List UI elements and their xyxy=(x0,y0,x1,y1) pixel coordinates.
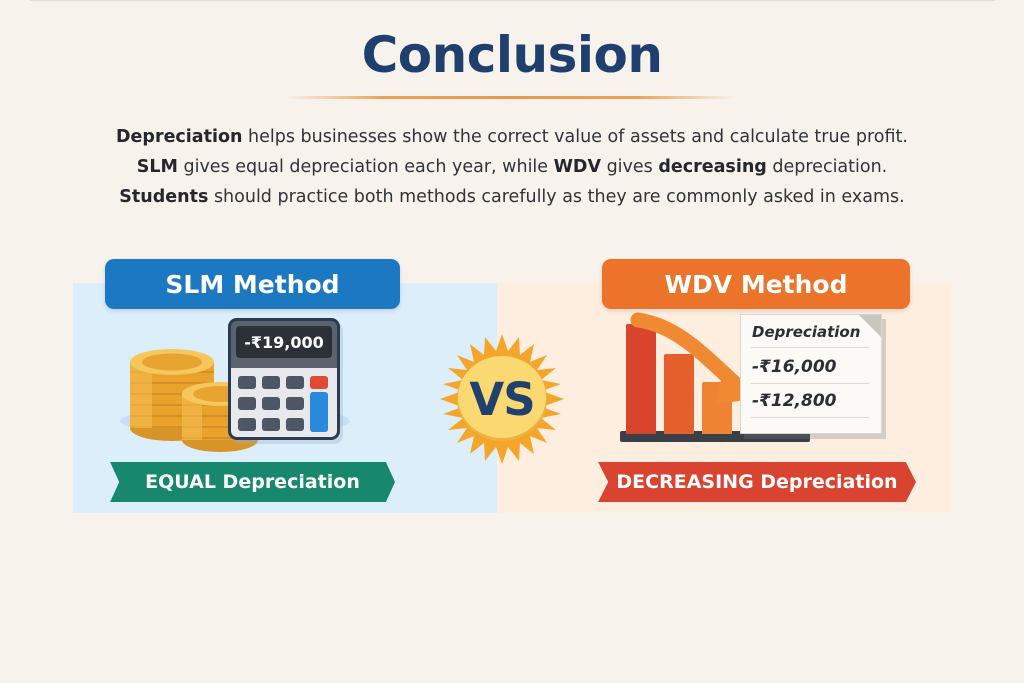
paragraph-line-2-text-b: gives xyxy=(601,157,658,177)
calculator-key-blue xyxy=(310,392,328,432)
paragraph-line-2-bold-decreasing: decreasing xyxy=(658,157,766,177)
calculator-display: -₹19,000 xyxy=(236,326,332,358)
calculator-display-value: -₹19,000 xyxy=(244,333,324,352)
paragraph-line-2-text-c: depreciation. xyxy=(767,157,887,177)
wdv-method-header[interactable]: WDV Method xyxy=(602,259,910,309)
summary-paragraph: Depreciation helps businesses show the c… xyxy=(62,122,962,212)
document-value-2: -₹12,800 xyxy=(752,391,837,411)
paragraph-line-1-bold: Depreciation xyxy=(116,127,242,147)
slm-ribbon-label: EQUAL Depreciation xyxy=(145,471,360,493)
paragraph-line-3: Students should practice both methods ca… xyxy=(62,182,962,212)
document-value-1: -₹16,000 xyxy=(752,357,837,377)
wdv-ribbon-label: DECREASING Depreciation xyxy=(616,471,897,493)
document-rule-3 xyxy=(751,417,869,418)
wdv-illustration: Depreciation -₹16,000 -₹12,800 xyxy=(612,308,912,450)
title-divider xyxy=(284,96,736,99)
document-rule-1 xyxy=(751,347,869,348)
paragraph-line-1-text: helps businesses show the correct value … xyxy=(242,127,908,147)
paragraph-line-2-bold-slm: SLM xyxy=(137,157,178,177)
page-title: Conclusion xyxy=(0,26,1024,84)
wdv-method-header-label: WDV Method xyxy=(664,270,847,299)
slm-method-header[interactable]: SLM Method xyxy=(105,259,400,309)
slm-ribbon: EQUAL Depreciation xyxy=(110,462,395,502)
wdv-ribbon: DECREASING Depreciation xyxy=(598,462,916,502)
document-rule-2 xyxy=(751,383,869,384)
slm-method-header-label: SLM Method xyxy=(165,270,339,299)
paragraph-line-3-text: should practice both methods carefully a… xyxy=(208,187,904,207)
vs-badge: VS xyxy=(437,334,567,464)
slm-illustration: -₹19,000 xyxy=(120,310,370,450)
band-top-rule xyxy=(30,0,995,1)
paragraph-line-3-bold: Students xyxy=(119,187,208,207)
calculator-key-red xyxy=(310,376,328,389)
paragraph-line-2-bold-wdv: WDV xyxy=(554,157,601,177)
slide-canvas: Conclusion Depreciation helps businesses… xyxy=(0,0,1024,683)
document-fold-corner xyxy=(859,315,881,337)
document-icon: Depreciation -₹16,000 -₹12,800 xyxy=(740,314,882,434)
paragraph-line-1: Depreciation helps businesses show the c… xyxy=(62,122,962,152)
paragraph-line-2-text-a: gives equal depreciation each year, whil… xyxy=(178,157,554,177)
calculator-keypad xyxy=(238,376,330,432)
document-heading: Depreciation xyxy=(752,323,860,341)
vs-label: VS xyxy=(437,334,567,464)
paragraph-line-2: SLM gives equal depreciation each year, … xyxy=(62,152,962,182)
